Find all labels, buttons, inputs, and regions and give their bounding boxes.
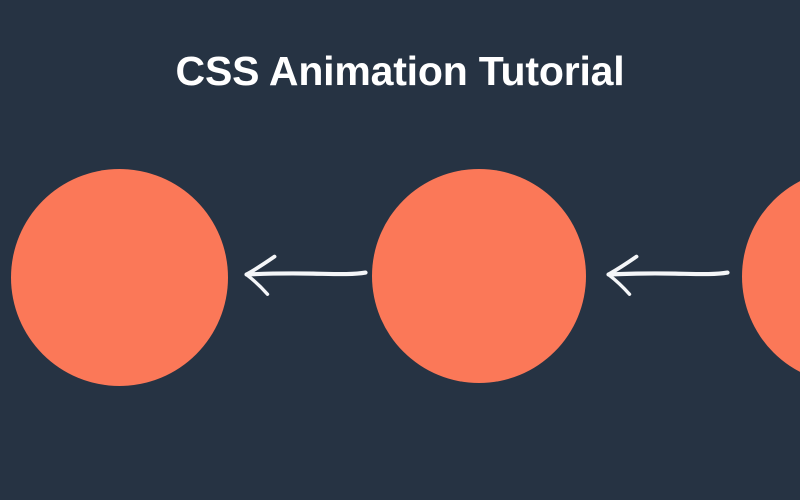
animation-canvas: CSS Animation Tutorial <box>0 0 800 500</box>
ball-right <box>742 169 800 384</box>
page-title: CSS Animation Tutorial <box>0 47 800 95</box>
ball-center <box>372 169 586 383</box>
arrow-left-icon <box>243 243 373 307</box>
ball-left <box>11 169 228 386</box>
arrow-right-icon <box>605 243 735 307</box>
